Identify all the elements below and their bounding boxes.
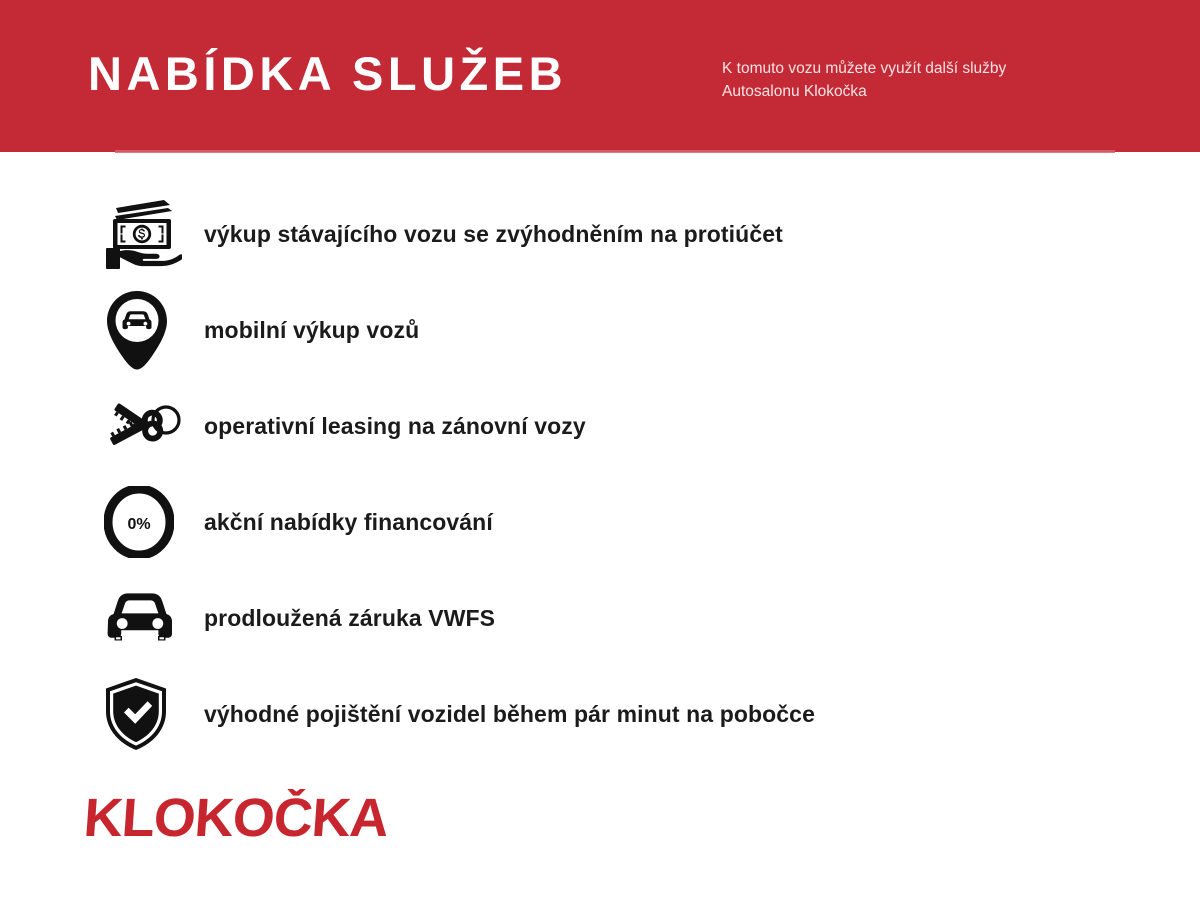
service-row: prodloužená záruka VWFS <box>0 570 1200 666</box>
header-subtitle-line-2: Autosalonu Klokočka <box>722 80 1122 103</box>
header-subtitle-line-1: K tomuto vozu můžete využít další služby <box>722 57 1122 80</box>
map-pin-car-icon <box>104 289 190 371</box>
logo-wordmark: KLOKOČKA <box>86 789 390 848</box>
service-label: výkup stávajícího vozu se zvýhodněním na… <box>204 221 783 248</box>
service-row: 0% akční nabídky financování <box>0 474 1200 570</box>
service-label: akční nabídky financování <box>204 509 493 536</box>
services-list: výkup stávajícího vozu se zvýhodněním na… <box>0 186 1200 762</box>
service-label: mobilní výkup vozů <box>204 317 419 344</box>
service-label: prodloužená záruka VWFS <box>204 605 495 632</box>
service-offer-page: NABÍDKA SLUŽEB K tomuto vozu můžete využ… <box>0 0 1200 899</box>
service-label: výhodné pojištění vozidel během pár minu… <box>204 701 815 728</box>
service-row: výhodné pojištění vozidel během pár minu… <box>0 666 1200 762</box>
service-label: operativní leasing na zánovní vozy <box>204 413 586 440</box>
zero-percent-circle-icon: 0% <box>104 481 190 563</box>
service-row: operativní leasing na zánovní vozy <box>0 378 1200 474</box>
page-title: NABÍDKA SLUŽEB <box>88 50 567 97</box>
header-underline-divider <box>115 150 1115 153</box>
car-front-icon <box>104 577 190 659</box>
header-subtitle: K tomuto vozu můžete využít další služby… <box>722 57 1122 103</box>
zero-percent-label: 0% <box>127 516 150 533</box>
shield-check-icon <box>104 673 190 755</box>
klokocka-logo: KLOKOČKA <box>86 789 486 849</box>
service-row: mobilní výkup vozů <box>0 282 1200 378</box>
service-row: výkup stávajícího vozu se zvýhodněním na… <box>0 186 1200 282</box>
header-band: NABÍDKA SLUŽEB K tomuto vozu můžete využ… <box>0 0 1200 152</box>
car-keys-icon <box>104 385 190 467</box>
money-in-hand-icon <box>104 193 190 275</box>
